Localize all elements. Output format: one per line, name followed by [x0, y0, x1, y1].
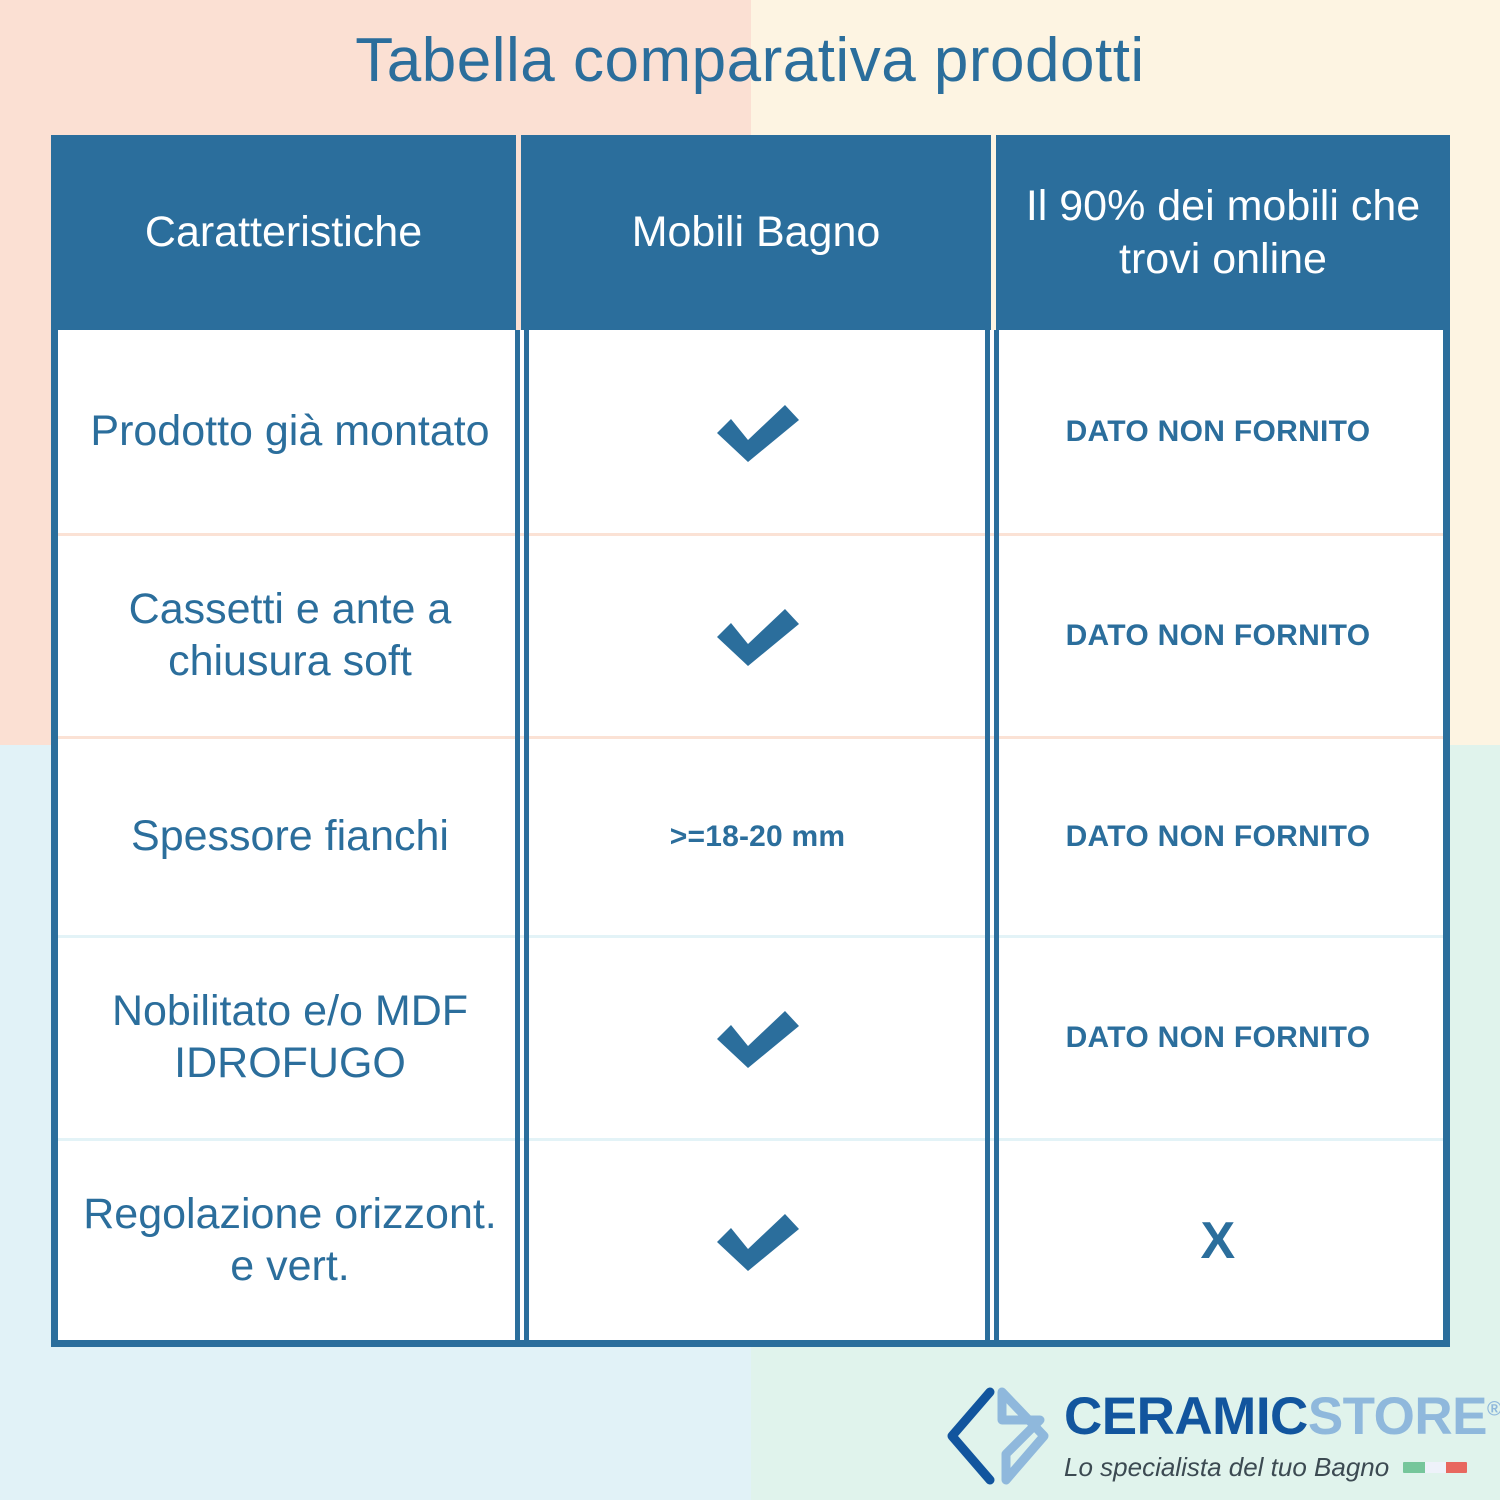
logo-tagline-row: Lo specialista del tuo Bagno	[1064, 1452, 1500, 1483]
table-header-online: Il 90% dei mobili che trovi online	[996, 135, 1450, 330]
comparison-table: Caratteristiche Mobili Bagno Il 90% dei …	[51, 135, 1450, 1347]
table-header-row: Caratteristiche Mobili Bagno Il 90% dei …	[51, 135, 1450, 330]
feature-label: Regolazione orizzont. e vert.	[58, 1141, 522, 1340]
check-icon	[710, 601, 806, 671]
page-title: Tabella comparativa prodotti	[0, 28, 1500, 93]
table-row: Nobilitato e/o MDF IDROFUGODATO NON FORN…	[58, 935, 1443, 1138]
online-value: DATO NON FORNITO	[993, 536, 1443, 736]
table-header-mobili-bagno: Mobili Bagno	[521, 135, 991, 330]
feature-label: Prodotto già montato	[58, 330, 522, 533]
table-row: Cassetti e ante a chiusura softDATO NON …	[58, 533, 1443, 736]
table-row: Prodotto già montatoDATO NON FORNITO	[58, 330, 1443, 533]
mobili-bagno-check	[522, 330, 993, 533]
feature-label: Nobilitato e/o MDF IDROFUGO	[58, 938, 522, 1138]
chevron-diamond-icon	[944, 1386, 1052, 1486]
online-value: DATO NON FORNITO	[993, 330, 1443, 533]
italian-flag-icon	[1403, 1462, 1467, 1473]
check-icon	[710, 397, 806, 467]
feature-label: Cassetti e ante a chiusura soft	[58, 536, 522, 736]
registered-trademark-icon: ®	[1487, 1398, 1500, 1420]
online-value: DATO NON FORNITO	[993, 938, 1443, 1138]
column-divider-1	[515, 330, 529, 1347]
ceramicstore-logo[interactable]: CERAMICSTORE® Lo specialista del tuo Bag…	[944, 1382, 1464, 1490]
table-row: Regolazione orizzont. e vert.X	[58, 1138, 1443, 1340]
logo-wordmark: CERAMICSTORE®	[1064, 1390, 1500, 1443]
check-icon	[710, 1003, 806, 1073]
column-divider-2	[985, 330, 999, 1347]
online-value: DATO NON FORNITO	[993, 739, 1443, 935]
online-x-mark: X	[993, 1141, 1443, 1340]
table-row: Spessore fianchi>=18-20 mmDATO NON FORNI…	[58, 736, 1443, 935]
mobili-bagno-check	[522, 536, 993, 736]
table-body: Prodotto già montatoDATO NON FORNITOCass…	[51, 330, 1450, 1347]
logo-tagline: Lo specialista del tuo Bagno	[1064, 1452, 1389, 1483]
mobili-bagno-check	[522, 1141, 993, 1340]
check-icon	[710, 1206, 806, 1276]
mobili-bagno-value: >=18-20 mm	[522, 739, 993, 935]
logo-word-secondary: STORE	[1308, 1387, 1487, 1446]
logo-word-primary: CERAMIC	[1064, 1387, 1308, 1446]
table-header-caratteristiche: Caratteristiche	[51, 135, 516, 330]
feature-label: Spessore fianchi	[58, 739, 522, 935]
x-icon: X	[1201, 1215, 1236, 1267]
mobili-bagno-check	[522, 938, 993, 1138]
